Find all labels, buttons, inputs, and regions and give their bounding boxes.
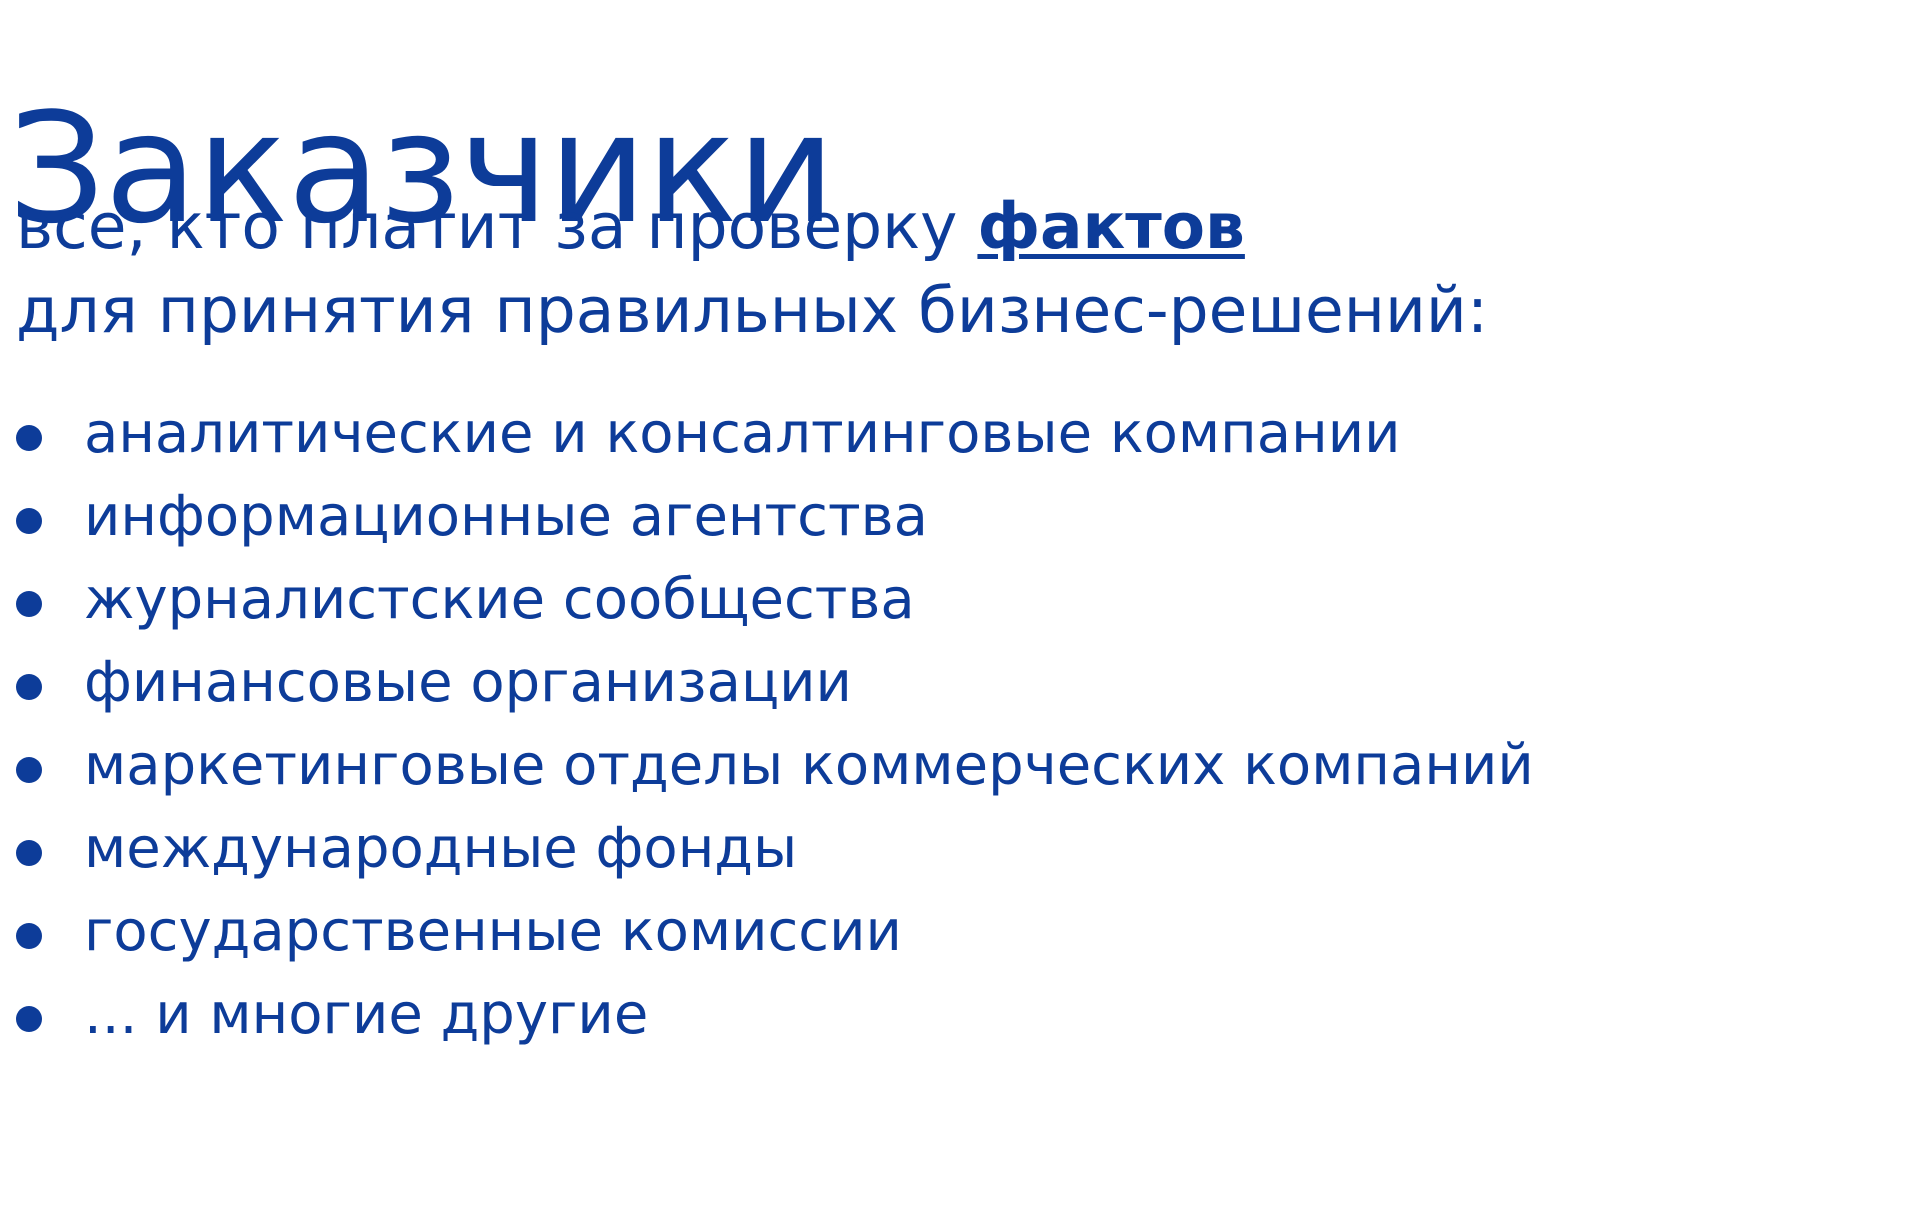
list-item-label: журналистские сообщества <box>84 558 1916 641</box>
slide-root: Заказчики все, кто платит за проверку фа… <box>0 0 1916 1226</box>
list-item-label: информационные агентства <box>84 475 1916 558</box>
list-item: ... и многие другие <box>10 973 1916 1056</box>
slide-subtitle: все, кто платит за проверку фактов для п… <box>16 185 1916 353</box>
bullet-dot-icon <box>10 724 46 807</box>
list-item: журналистские сообщества <box>10 558 1916 641</box>
subtitle-line-2: для принятия правильных бизнес-решений: <box>16 269 1916 353</box>
list-item-label: финансовые организации <box>84 641 1916 724</box>
bullet-dot-icon <box>10 475 46 558</box>
list-item: аналитические и консалтинговые компании <box>10 392 1916 475</box>
bullet-dot-icon <box>10 890 46 973</box>
bullet-dot-icon <box>10 807 46 890</box>
list-item: информационные агентства <box>10 475 1916 558</box>
list-item-label: государственные комиссии <box>84 890 1916 973</box>
customers-bullet-list: аналитические и консалтинговые компании … <box>10 392 1916 1056</box>
list-item: международные фонды <box>10 807 1916 890</box>
list-item: государственные комиссии <box>10 890 1916 973</box>
list-item-label: маркетинговые отделы коммерческих компан… <box>84 724 1916 807</box>
list-item-label: аналитические и консалтинговые компании <box>84 392 1916 475</box>
bullet-dot-icon <box>10 641 46 724</box>
bullet-dot-icon <box>10 558 46 641</box>
list-item: маркетинговые отделы коммерческих компан… <box>10 724 1916 807</box>
list-item: финансовые организации <box>10 641 1916 724</box>
subtitle-line-1: все, кто платит за проверку фактов <box>16 185 1916 269</box>
bullet-dot-icon <box>10 392 46 475</box>
list-item-label: ... и многие другие <box>84 973 1916 1056</box>
bullet-dot-icon <box>10 973 46 1056</box>
list-item-label: международные фонды <box>84 807 1916 890</box>
subtitle-line-1-text: все, кто платит за проверку <box>16 190 977 263</box>
subtitle-emphasis-word: фактов <box>977 190 1244 263</box>
